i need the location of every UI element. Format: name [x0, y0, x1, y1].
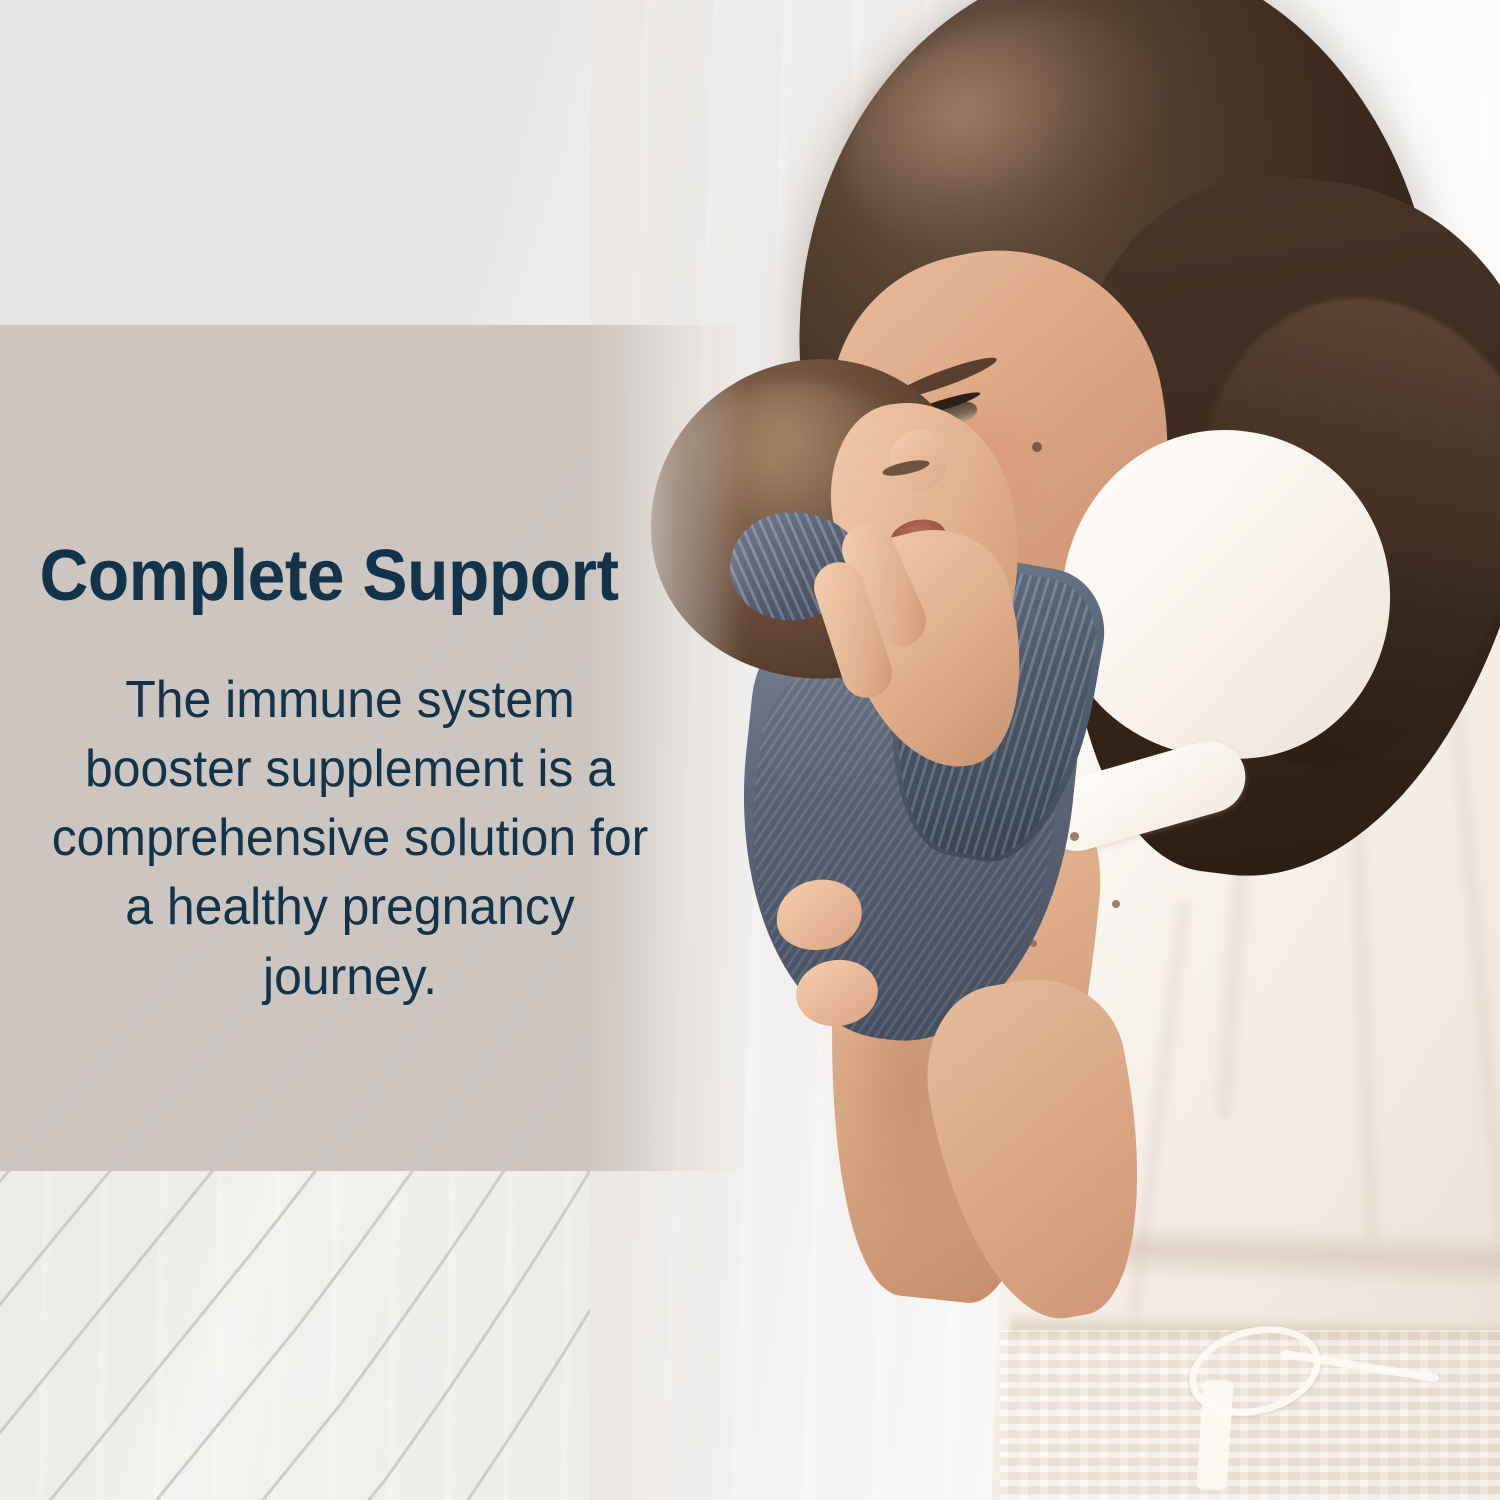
marketing-copy-block: Complete Support The immune system boost… [0, 540, 700, 1012]
mother-arm-freckle [1070, 832, 1079, 841]
body-copy-text: The immune system booster supplement is … [52, 671, 649, 1006]
body-copy: The immune system booster supplement is … [14, 666, 686, 1012]
mother-beauty-mark [1032, 442, 1042, 452]
mother-arm-freckle [1112, 900, 1120, 908]
mother-and-baby-photo [590, 0, 1500, 1500]
page-title: Complete Support [0, 540, 658, 612]
promo-image-canvas: Complete Support The immune system boost… [0, 0, 1500, 1500]
